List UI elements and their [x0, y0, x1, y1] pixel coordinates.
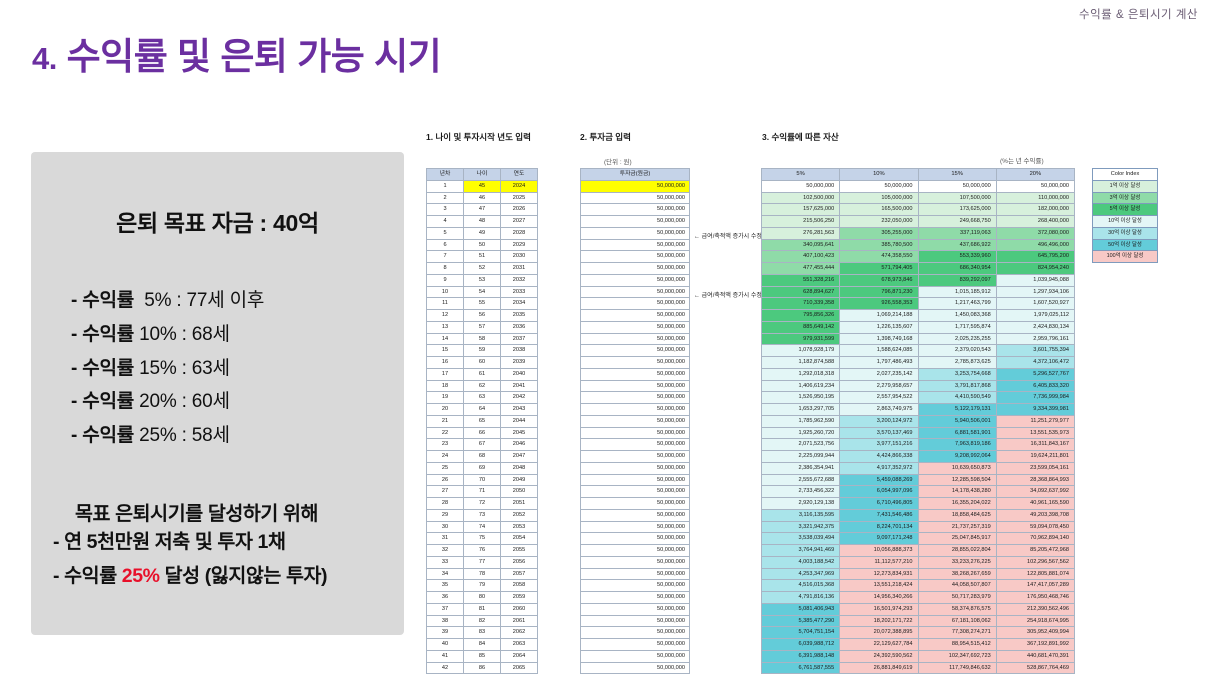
table-cell[interactable]: 50,000,000: [581, 474, 690, 486]
table-row[interactable]: 6,039,988,71222,129,627,78488,954,515,41…: [762, 639, 1075, 651]
table-cell[interactable]: 2045: [501, 427, 538, 439]
table-cell[interactable]: 59: [464, 345, 501, 357]
table-cell[interactable]: 16,311,843,167: [996, 439, 1074, 451]
table-cell[interactable]: 62: [464, 380, 501, 392]
table-cell[interactable]: 14: [427, 333, 464, 345]
table-cell[interactable]: 3,253,754,668: [918, 368, 996, 380]
table-row[interactable]: 885,649,1421,226,135,6071,717,595,8742,4…: [762, 321, 1075, 333]
table-cell[interactable]: 232,050,000: [840, 216, 918, 228]
table-cell[interactable]: 1,182,874,588: [762, 357, 840, 369]
table-cell[interactable]: 5,122,179,131: [918, 404, 996, 416]
table-row[interactable]: 4,003,188,54211,112,577,21033,233,276,22…: [762, 556, 1075, 568]
table-cell[interactable]: 50,000,000: [581, 368, 690, 380]
table-row[interactable]: 50,000,000: [581, 368, 690, 380]
table-cell[interactable]: 15: [427, 345, 464, 357]
table-cell[interactable]: 9: [427, 274, 464, 286]
table-cell[interactable]: 58,374,876,575: [918, 603, 996, 615]
table-row[interactable]: 50,000,000: [581, 627, 690, 639]
table-row[interactable]: 340,095,641385,780,500437,686,922496,496…: [762, 239, 1075, 251]
table-row[interactable]: 15592038: [427, 345, 538, 357]
table-cell[interactable]: 16,355,204,022: [918, 498, 996, 510]
table-cell[interactable]: 5,385,477,290: [762, 615, 840, 627]
table-row[interactable]: 50,000,000: [581, 180, 690, 192]
table-cell[interactable]: 39: [427, 627, 464, 639]
table-row[interactable]: 29732052: [427, 509, 538, 521]
table-cell[interactable]: 50,000,000: [581, 274, 690, 286]
table-cell[interactable]: 477,455,444: [762, 263, 840, 275]
table-cell[interactable]: 1,785,962,590: [762, 415, 840, 427]
table-cell[interactable]: 4,917,352,972: [840, 462, 918, 474]
table-cell[interactable]: 337,119,063: [918, 227, 996, 239]
table-cell[interactable]: 678,973,846: [840, 274, 918, 286]
table-cell[interactable]: 50,000,000: [581, 380, 690, 392]
table-cell[interactable]: 212,390,562,496: [996, 603, 1074, 615]
table-row[interactable]: 22662045: [427, 427, 538, 439]
table-cell[interactable]: 249,668,750: [918, 216, 996, 228]
table-cell[interactable]: 78: [464, 568, 501, 580]
table-cell[interactable]: 24,392,590,562: [840, 650, 918, 662]
table-cell[interactable]: 2,733,456,322: [762, 486, 840, 498]
table-cell[interactable]: 979,931,599: [762, 333, 840, 345]
table-cell[interactable]: 77: [464, 556, 501, 568]
table-cell[interactable]: 44,058,507,807: [918, 580, 996, 592]
table-row[interactable]: 50,000,000: [581, 462, 690, 474]
table-cell[interactable]: 50,000,000: [581, 439, 690, 451]
table-cell[interactable]: 686,340,954: [918, 263, 996, 275]
table-cell[interactable]: 1,039,945,088: [996, 274, 1074, 286]
table-cell[interactable]: 2026: [501, 204, 538, 216]
table-cell[interactable]: 2,863,749,975: [840, 404, 918, 416]
table-cell[interactable]: 182,000,000: [996, 204, 1074, 216]
table-row[interactable]: 35792058: [427, 580, 538, 592]
table-cell[interactable]: 50,000,000: [581, 639, 690, 651]
table-row[interactable]: 50,000,000: [581, 545, 690, 557]
table-cell[interactable]: 2,785,873,625: [918, 357, 996, 369]
table-cell[interactable]: 5,296,527,767: [996, 368, 1074, 380]
table-cell[interactable]: 7,963,819,186: [918, 439, 996, 451]
table-cell[interactable]: 926,558,353: [840, 298, 918, 310]
table-row[interactable]: 50,000,000: [581, 192, 690, 204]
table-cell[interactable]: 4,516,015,368: [762, 580, 840, 592]
table-cell[interactable]: 20,072,388,895: [840, 627, 918, 639]
table-cell[interactable]: 10: [427, 286, 464, 298]
table-cell[interactable]: 3,791,817,868: [918, 380, 996, 392]
table-cell[interactable]: 24: [427, 451, 464, 463]
table-cell[interactable]: 5,940,506,001: [918, 415, 996, 427]
table-row[interactable]: 2,386,354,9414,917,352,97210,639,650,873…: [762, 462, 1075, 474]
table-cell[interactable]: 3,321,942,375: [762, 521, 840, 533]
table-cell[interactable]: 50,000,000: [581, 592, 690, 604]
table-row[interactable]: 17612040: [427, 368, 538, 380]
table-cell[interactable]: 2,424,830,134: [996, 321, 1074, 333]
table-cell[interactable]: 1,406,619,234: [762, 380, 840, 392]
table-row[interactable]: 50,000,000: [581, 239, 690, 251]
table-cell[interactable]: 63: [464, 392, 501, 404]
table-row[interactable]: 50,000,00050,000,00050,000,00050,000,000: [762, 180, 1075, 192]
table-row[interactable]: 1,653,297,7052,863,749,9755,122,179,1319…: [762, 404, 1075, 416]
table-row[interactable]: 38822061: [427, 615, 538, 627]
table-cell[interactable]: 2041: [501, 380, 538, 392]
table-cell[interactable]: 628,894,627: [762, 286, 840, 298]
table-cell[interactable]: 14,178,438,280: [918, 486, 996, 498]
table-cell[interactable]: 157,625,000: [762, 204, 840, 216]
table-cell[interactable]: 37: [427, 603, 464, 615]
table-cell[interactable]: 18,858,484,625: [918, 509, 996, 521]
table-cell[interactable]: 50,000,000: [581, 533, 690, 545]
table-cell[interactable]: 215,506,250: [762, 216, 840, 228]
table-cell[interactable]: 58: [464, 333, 501, 345]
table-row[interactable]: 2462025: [427, 192, 538, 204]
table-cell[interactable]: 17: [427, 368, 464, 380]
table-cell[interactable]: 42: [427, 662, 464, 674]
table-cell[interactable]: 2036: [501, 321, 538, 333]
table-investment[interactable]: 투자금(원금)50,000,00050,000,00050,000,00050,…: [580, 168, 690, 674]
table-row[interactable]: 50,000,000: [581, 263, 690, 275]
table-cell[interactable]: 7,736,999,984: [996, 392, 1074, 404]
table-cell[interactable]: 50,000,000: [581, 227, 690, 239]
table-cell[interactable]: 18: [427, 380, 464, 392]
table-cell[interactable]: 36: [427, 592, 464, 604]
table-cell[interactable]: 49,203,398,708: [996, 509, 1074, 521]
table-cell[interactable]: 5,704,751,154: [762, 627, 840, 639]
table-cell[interactable]: 7,431,546,486: [840, 509, 918, 521]
table-row[interactable]: 6,761,587,55526,881,849,619117,749,846,6…: [762, 662, 1075, 674]
table-cell[interactable]: 86: [464, 662, 501, 674]
table-cell[interactable]: 2039: [501, 357, 538, 369]
table-row[interactable]: 50,000,000: [581, 227, 690, 239]
table-cell[interactable]: 571,794,405: [840, 263, 918, 275]
table-row[interactable]: 50,000,000: [581, 404, 690, 416]
table-cell[interactable]: 2,071,523,756: [762, 439, 840, 451]
table-row[interactable]: 8522031: [427, 263, 538, 275]
table-cell[interactable]: 40,961,165,590: [996, 498, 1074, 510]
table-cell[interactable]: 50,000,000: [581, 486, 690, 498]
table-cell[interactable]: 50,000,000: [581, 216, 690, 228]
table-cell[interactable]: 6,405,833,320: [996, 380, 1074, 392]
table-cell[interactable]: 67,181,108,062: [918, 615, 996, 627]
table-row[interactable]: 50,000,000: [581, 286, 690, 298]
table-cell[interactable]: 4,791,816,136: [762, 592, 840, 604]
table-cell[interactable]: 2043: [501, 404, 538, 416]
table-cell[interactable]: 1,588,624,085: [840, 345, 918, 357]
table-cell[interactable]: 268,400,000: [996, 216, 1074, 228]
table-cell[interactable]: 1,653,297,705: [762, 404, 840, 416]
table-cell[interactable]: 70,962,894,140: [996, 533, 1074, 545]
table-cell[interactable]: 79: [464, 580, 501, 592]
table-cell[interactable]: 437,686,922: [918, 239, 996, 251]
table-cell[interactable]: 2052: [501, 509, 538, 521]
table-cell[interactable]: 50,000,000: [581, 239, 690, 251]
table-row[interactable]: 2,225,099,9444,424,866,3389,208,992,0641…: [762, 451, 1075, 463]
table-cell[interactable]: 50,000,000: [581, 392, 690, 404]
table-row[interactable]: 9532032: [427, 274, 538, 286]
table-cell[interactable]: 2,959,796,161: [996, 333, 1074, 345]
table-cell[interactable]: 645,795,200: [996, 251, 1074, 263]
table-row[interactable]: 40842063: [427, 639, 538, 651]
table-row[interactable]: 50,000,000: [581, 451, 690, 463]
table-cell[interactable]: 25,047,845,917: [918, 533, 996, 545]
table-row[interactable]: 50,000,000: [581, 204, 690, 216]
table-row[interactable]: 6,391,988,14824,392,590,562102,347,692,7…: [762, 650, 1075, 662]
table-row[interactable]: 36802059: [427, 592, 538, 604]
table-cell[interactable]: 2058: [501, 580, 538, 592]
table-cell[interactable]: 105,000,000: [840, 192, 918, 204]
table-cell[interactable]: 50,000,000: [581, 650, 690, 662]
table-cell[interactable]: 5: [427, 227, 464, 239]
table-row[interactable]: 50,000,000: [581, 521, 690, 533]
table-row[interactable]: 5,385,477,29018,202,171,72267,181,108,06…: [762, 615, 1075, 627]
table-cell[interactable]: 2,025,235,255: [918, 333, 996, 345]
table-cell[interactable]: 496,496,000: [996, 239, 1074, 251]
table-cell[interactable]: 34: [427, 568, 464, 580]
table-cell[interactable]: 75: [464, 533, 501, 545]
table-cell[interactable]: 110,000,000: [996, 192, 1074, 204]
table-cell[interactable]: 117,749,846,632: [918, 662, 996, 674]
table-cell[interactable]: 2059: [501, 592, 538, 604]
table-cell[interactable]: 5,081,406,943: [762, 603, 840, 615]
table-cell[interactable]: 2,379,020,543: [918, 345, 996, 357]
table-cell[interactable]: 50,000,000: [581, 251, 690, 263]
table-cell[interactable]: 76: [464, 545, 501, 557]
table-cell[interactable]: 2,225,099,944: [762, 451, 840, 463]
table-cell[interactable]: 4: [427, 216, 464, 228]
table-cell[interactable]: 23: [427, 439, 464, 451]
table-cell[interactable]: 2046: [501, 439, 538, 451]
table-cell[interactable]: 50,000,000: [581, 427, 690, 439]
table-cell[interactable]: 11,112,577,210: [840, 556, 918, 568]
table-row[interactable]: 42862065: [427, 662, 538, 674]
table-row[interactable]: 50,000,000: [581, 650, 690, 662]
table-cell[interactable]: 18,202,171,722: [840, 615, 918, 627]
table-row[interactable]: 11552034: [427, 298, 538, 310]
table-cell[interactable]: 2033: [501, 286, 538, 298]
table-cell[interactable]: 21: [427, 415, 464, 427]
table-cell[interactable]: 59,094,078,450: [996, 521, 1074, 533]
table-row[interactable]: 50,000,000: [581, 427, 690, 439]
table-row[interactable]: 50,000,000: [581, 498, 690, 510]
table-row[interactable]: 50,000,000: [581, 392, 690, 404]
table-cell[interactable]: 50,000,000: [581, 404, 690, 416]
table-cell[interactable]: 3,538,039,494: [762, 533, 840, 545]
table-cell[interactable]: 19,624,211,801: [996, 451, 1074, 463]
table-cell[interactable]: 50,000,000: [581, 545, 690, 557]
table-row[interactable]: 551,328,216678,973,846839,292,0971,039,9…: [762, 274, 1075, 286]
table-row[interactable]: 39832062: [427, 627, 538, 639]
table-cell[interactable]: 2049: [501, 474, 538, 486]
table-cell[interactable]: 81: [464, 603, 501, 615]
table-cell[interactable]: 6,710,496,805: [840, 498, 918, 510]
table-row[interactable]: 1,526,950,1952,557,954,5224,410,590,5497…: [762, 392, 1075, 404]
table-cell[interactable]: 50,000,000: [581, 357, 690, 369]
table-cell[interactable]: 165,500,000: [840, 204, 918, 216]
table-row[interactable]: 20642043: [427, 404, 538, 416]
table-cell[interactable]: 50,000,000: [581, 204, 690, 216]
table-cell[interactable]: 1,292,018,318: [762, 368, 840, 380]
table-row[interactable]: 26702049: [427, 474, 538, 486]
table-row[interactable]: 1,078,928,1791,588,624,0852,379,020,5433…: [762, 345, 1075, 357]
table-cell[interactable]: 4,410,590,549: [918, 392, 996, 404]
table-cell[interactable]: 74: [464, 521, 501, 533]
table-cell[interactable]: 2034: [501, 298, 538, 310]
table-row[interactable]: 30742053: [427, 521, 538, 533]
table-cell[interactable]: 122,805,881,074: [996, 568, 1074, 580]
table-row[interactable]: 50,000,000: [581, 310, 690, 322]
table-cell[interactable]: 474,358,550: [840, 251, 918, 263]
table-row[interactable]: 3,321,942,3758,224,701,13421,737,257,319…: [762, 521, 1075, 533]
table-cell[interactable]: 73: [464, 509, 501, 521]
table-row[interactable]: 27712050: [427, 486, 538, 498]
table-cell[interactable]: 50,000,000: [581, 333, 690, 345]
table-cell[interactable]: 29: [427, 509, 464, 521]
table-row[interactable]: 5,081,406,94316,501,974,29358,374,876,57…: [762, 603, 1075, 615]
table-cell[interactable]: 1,015,185,912: [918, 286, 996, 298]
table-cell[interactable]: 173,625,000: [918, 204, 996, 216]
table-cell[interactable]: 2047: [501, 451, 538, 463]
table-cell[interactable]: 20: [427, 404, 464, 416]
table-cell[interactable]: 22: [427, 427, 464, 439]
table-cell[interactable]: 824,954,240: [996, 263, 1074, 275]
table-cell[interactable]: 48: [464, 216, 501, 228]
table-cell[interactable]: 67: [464, 439, 501, 451]
table-cell[interactable]: 305,255,000: [840, 227, 918, 239]
table-cell[interactable]: 50,000,000: [996, 180, 1074, 192]
table-row[interactable]: 157,625,000165,500,000173,625,000182,000…: [762, 204, 1075, 216]
table-cell[interactable]: 27: [427, 486, 464, 498]
table-cell[interactable]: 60: [464, 357, 501, 369]
table-row[interactable]: 5,704,751,15420,072,388,89577,308,274,27…: [762, 627, 1075, 639]
table-cell[interactable]: 84: [464, 639, 501, 651]
table-cell[interactable]: 2027: [501, 216, 538, 228]
table-row[interactable]: 979,931,5991,398,749,1682,025,235,2552,9…: [762, 333, 1075, 345]
table-cell[interactable]: 6,881,581,901: [918, 427, 996, 439]
table-cell[interactable]: 1,979,025,112: [996, 310, 1074, 322]
table-row[interactable]: 3,764,941,46910,056,888,37328,855,022,80…: [762, 545, 1075, 557]
table-cell[interactable]: 22,129,627,784: [840, 639, 918, 651]
table-cell[interactable]: 2044: [501, 415, 538, 427]
table-cell[interactable]: 50,000,000: [581, 451, 690, 463]
table-cell[interactable]: 50,000,000: [581, 521, 690, 533]
table-cell[interactable]: 23,599,054,161: [996, 462, 1074, 474]
table-cell[interactable]: 28: [427, 498, 464, 510]
table-cell[interactable]: 50,000,000: [840, 180, 918, 192]
table-cell[interactable]: 66: [464, 427, 501, 439]
table-row[interactable]: 50,000,000: [581, 357, 690, 369]
table-cell[interactable]: 553,339,960: [918, 251, 996, 263]
table-cell[interactable]: 28,855,022,804: [918, 545, 996, 557]
table-cell[interactable]: 50,000,000: [581, 462, 690, 474]
table-cell[interactable]: 50,000,000: [581, 345, 690, 357]
table-cell[interactable]: 2065: [501, 662, 538, 674]
table-cell[interactable]: 61: [464, 368, 501, 380]
table-cell[interactable]: 50,000,000: [581, 298, 690, 310]
table-cell[interactable]: 77,308,274,271: [918, 627, 996, 639]
table-cell[interactable]: 2053: [501, 521, 538, 533]
table-row[interactable]: 28722051: [427, 498, 538, 510]
table-row[interactable]: 1,292,018,3182,027,235,1423,253,754,6685…: [762, 368, 1075, 380]
table-cell[interactable]: 4,003,188,542: [762, 556, 840, 568]
table-cell[interactable]: 50,000,000: [918, 180, 996, 192]
table-cell[interactable]: 3,977,151,216: [840, 439, 918, 451]
table-cell[interactable]: 50,000,000: [581, 615, 690, 627]
table-cell[interactable]: 50,000,000: [581, 556, 690, 568]
table-cell[interactable]: 32: [427, 545, 464, 557]
table-cell[interactable]: 50,000,000: [581, 568, 690, 580]
table-row[interactable]: 50,000,000: [581, 274, 690, 286]
table-row[interactable]: 50,000,000: [581, 380, 690, 392]
table-row[interactable]: 50,000,000: [581, 415, 690, 427]
table-row[interactable]: 6502029: [427, 239, 538, 251]
table-cell[interactable]: 56: [464, 310, 501, 322]
table-cell[interactable]: 2: [427, 192, 464, 204]
table-row[interactable]: 34782057: [427, 568, 538, 580]
table-cell[interactable]: 107,500,000: [918, 192, 996, 204]
table-cell[interactable]: 6,761,587,555: [762, 662, 840, 674]
table-cell[interactable]: 6,391,988,148: [762, 650, 840, 662]
table-cell[interactable]: 13: [427, 321, 464, 333]
table-cell[interactable]: 26: [427, 474, 464, 486]
table-cell[interactable]: 50,000,000: [581, 321, 690, 333]
table-cell[interactable]: 2063: [501, 639, 538, 651]
table-row[interactable]: 12562035: [427, 310, 538, 322]
table-cell[interactable]: 276,281,563: [762, 227, 840, 239]
table-cell[interactable]: 440,681,470,391: [996, 650, 1074, 662]
table-cell[interactable]: 50,000,000: [581, 603, 690, 615]
table-cell[interactable]: 2060: [501, 603, 538, 615]
table-cell[interactable]: 2062: [501, 627, 538, 639]
table-cell[interactable]: 26,881,849,619: [840, 662, 918, 674]
table-cell[interactable]: 2042: [501, 392, 538, 404]
table-cell[interactable]: 1,226,135,607: [840, 321, 918, 333]
table-cell[interactable]: 176,950,468,746: [996, 592, 1074, 604]
table-cell[interactable]: 3,200,124,972: [840, 415, 918, 427]
table-row[interactable]: 21652044: [427, 415, 538, 427]
table-cell[interactable]: 3,570,137,469: [840, 427, 918, 439]
table-row[interactable]: 50,000,000: [581, 662, 690, 674]
table-cell[interactable]: 55: [464, 298, 501, 310]
table-row[interactable]: 50,000,000: [581, 486, 690, 498]
table-cell[interactable]: 385,780,500: [840, 239, 918, 251]
table-cell[interactable]: 6,039,988,712: [762, 639, 840, 651]
table-cell[interactable]: 710,339,358: [762, 298, 840, 310]
table-row[interactable]: 18622041: [427, 380, 538, 392]
table-cell[interactable]: 57: [464, 321, 501, 333]
table-cell[interactable]: 340,095,641: [762, 239, 840, 251]
table-cell[interactable]: 50,000,000: [581, 662, 690, 674]
table-row[interactable]: 50,000,000: [581, 333, 690, 345]
table-cell[interactable]: 51: [464, 251, 501, 263]
table-row[interactable]: 50,000,000: [581, 439, 690, 451]
table-row[interactable]: 7512030: [427, 251, 538, 263]
table-age-year[interactable]: 년차나이연도1452024246202534720264482027549202…: [426, 168, 538, 674]
table-cell[interactable]: 14,956,340,266: [840, 592, 918, 604]
table-cell[interactable]: 45: [464, 180, 501, 192]
table-cell[interactable]: 372,080,000: [996, 227, 1074, 239]
table-cell[interactable]: 71: [464, 486, 501, 498]
table-cell[interactable]: 2025: [501, 192, 538, 204]
table-row[interactable]: 4,791,816,13614,956,340,26650,717,283,97…: [762, 592, 1075, 604]
table-cell[interactable]: 2,386,354,941: [762, 462, 840, 474]
table-row[interactable]: 2,555,672,6885,459,088,26912,285,598,504…: [762, 474, 1075, 486]
table-cell[interactable]: 10,639,650,873: [918, 462, 996, 474]
table-cell[interactable]: 1: [427, 180, 464, 192]
table-cell[interactable]: 2057: [501, 568, 538, 580]
table-cell[interactable]: 2035: [501, 310, 538, 322]
table-cell[interactable]: 19: [427, 392, 464, 404]
table-row[interactable]: 31752054: [427, 533, 538, 545]
table-cell[interactable]: 1,607,520,927: [996, 298, 1074, 310]
table-cell[interactable]: 2028: [501, 227, 538, 239]
table-cell[interactable]: 1,078,928,179: [762, 345, 840, 357]
